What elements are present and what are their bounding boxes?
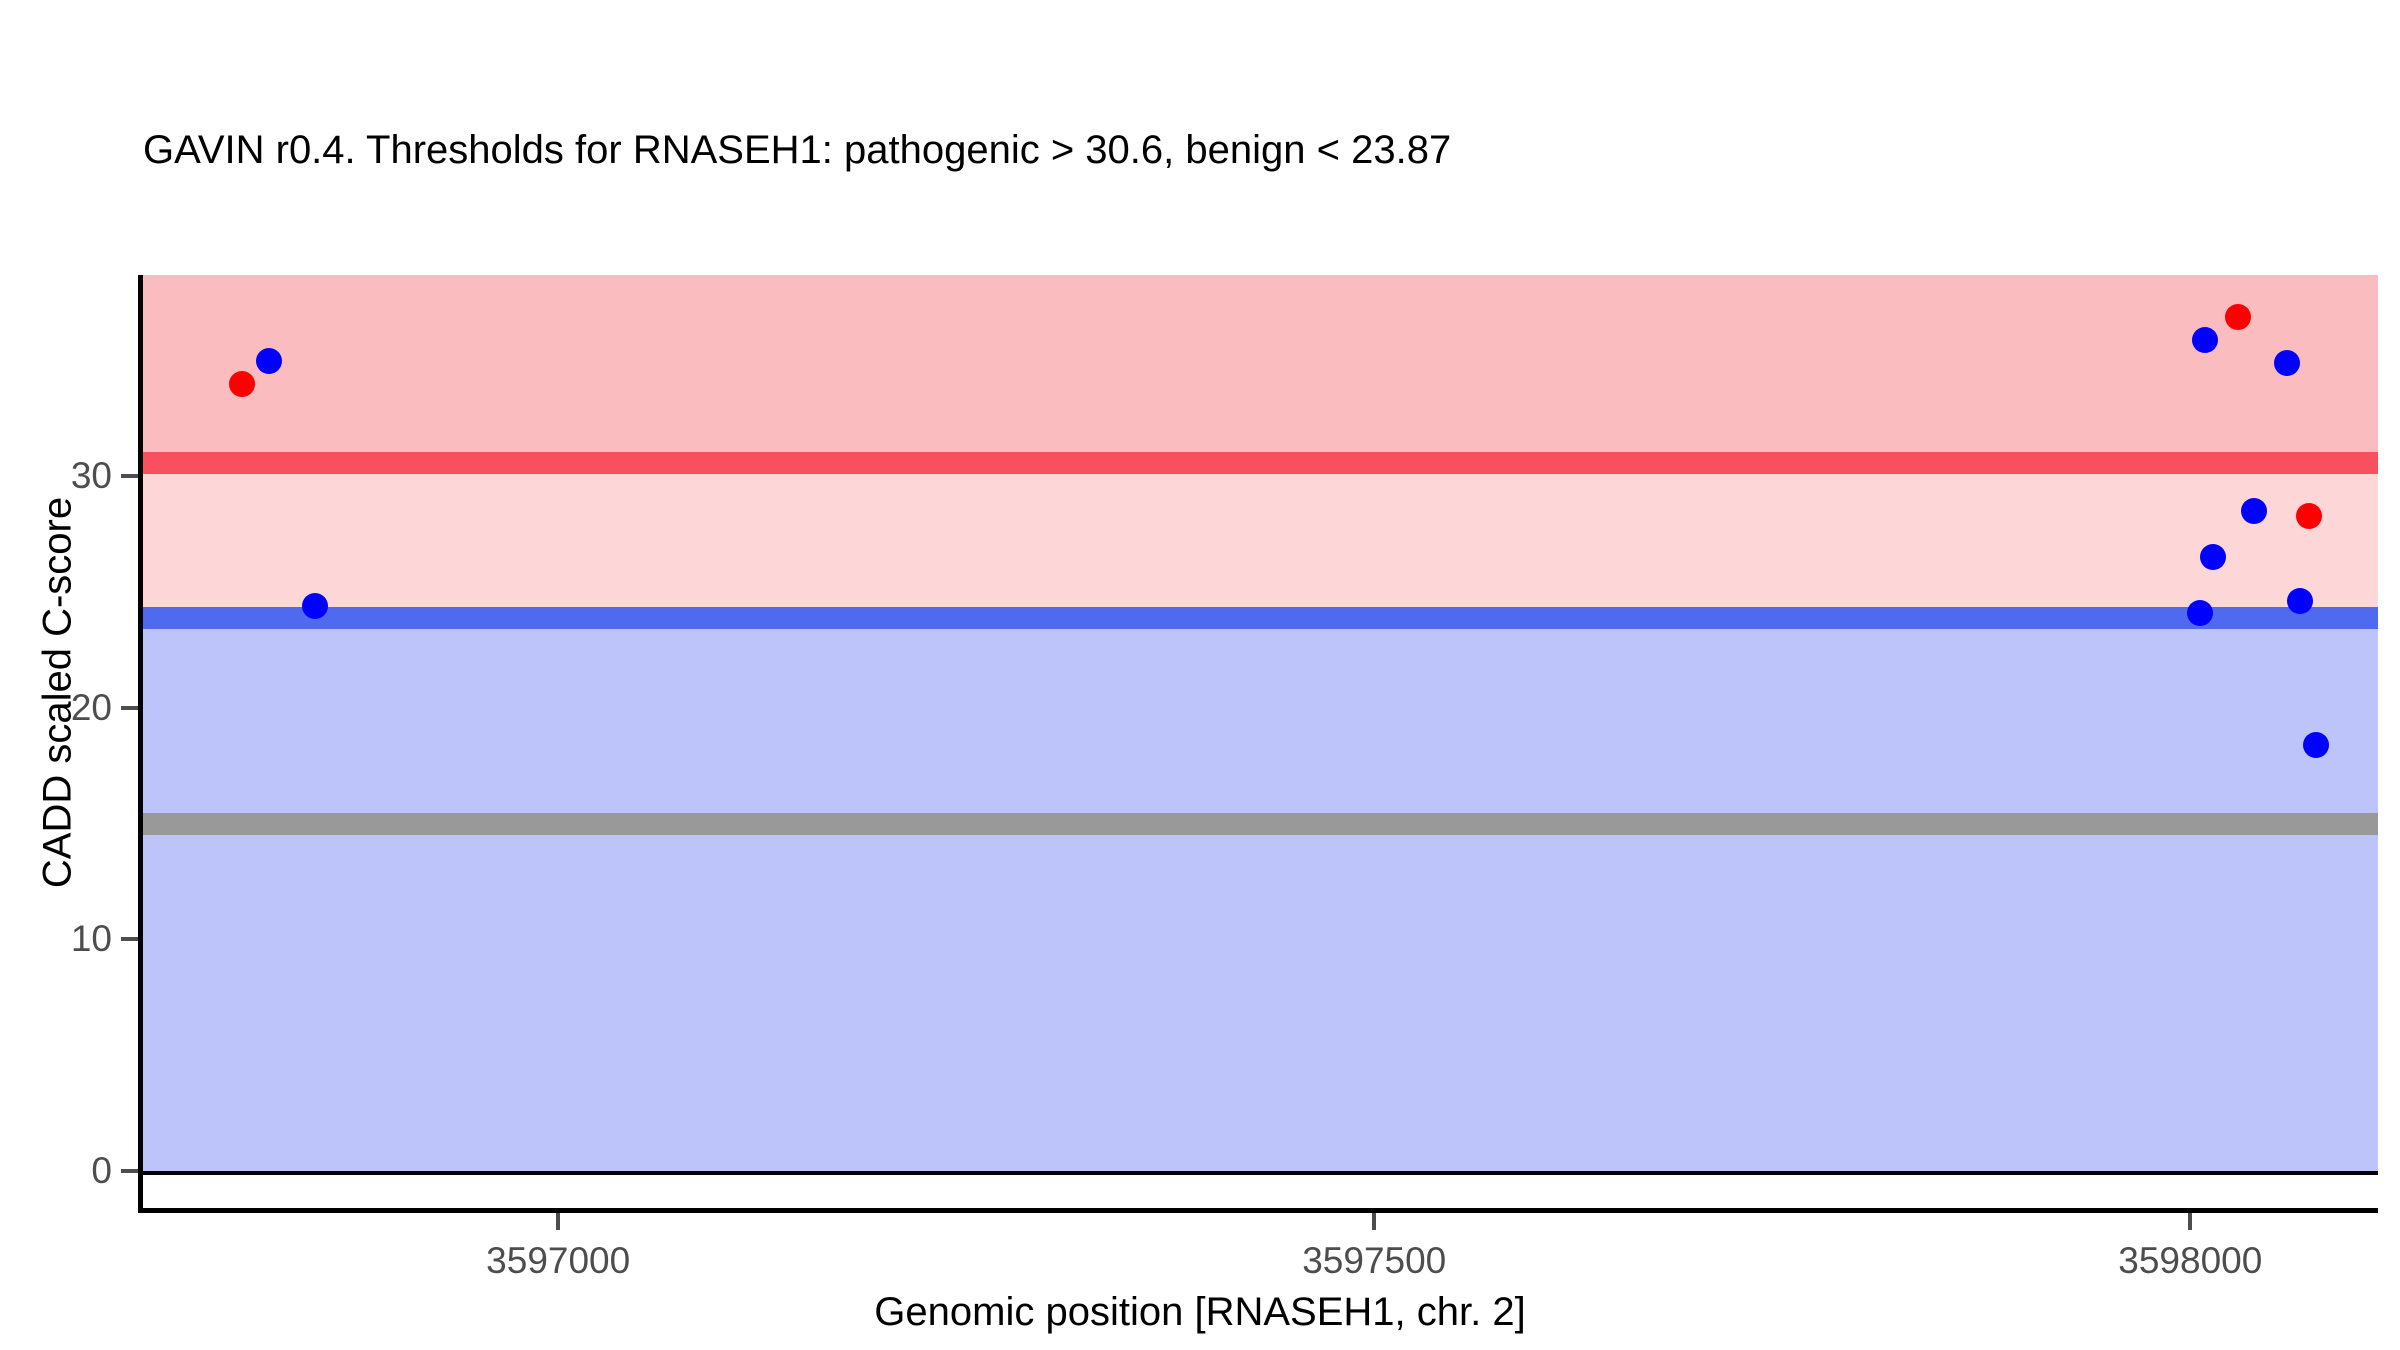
x-tick-3598000: [2188, 1213, 2192, 1230]
gnomad-variant-point[interactable]: [2241, 498, 2267, 524]
zero-baseline: [142, 1171, 2378, 1175]
y-tick-30: [121, 474, 138, 478]
gnomad-variant-point[interactable]: [2287, 588, 2313, 614]
x-tick-label-3597500: 3597500: [1302, 1240, 1446, 1282]
gnomad-variant-point[interactable]: [256, 348, 282, 374]
band-pathogenic: [142, 275, 2378, 463]
benign-threshold-line: [142, 607, 2378, 629]
x-tick-label-3598000: 3598000: [2118, 1240, 2262, 1282]
genome-wide-fallback-threshold-line: [142, 813, 2378, 835]
x-tick-3597000: [556, 1213, 560, 1230]
pathogenic-threshold-line: [142, 452, 2378, 474]
y-axis-title: CADD scaled C-score: [36, 343, 81, 1043]
y-tick-0: [121, 1169, 138, 1173]
plot-panel: [142, 275, 2378, 1213]
x-axis-line: [138, 1208, 2378, 1213]
x-axis-title: Genomic position [RNASEH1, chr. 2]: [0, 1290, 2400, 1335]
band-benign: [142, 618, 2378, 1171]
x-tick-3597500: [1372, 1213, 1376, 1230]
x-tick-label-3597000: 3597000: [486, 1240, 630, 1282]
gnomad-variant-point[interactable]: [2187, 600, 2213, 626]
gnomad-variant-point[interactable]: [2192, 327, 2218, 353]
gnomad-variant-point[interactable]: [2303, 732, 2329, 758]
gnomad-variant-point[interactable]: [2274, 350, 2300, 376]
y-tick-10: [121, 937, 138, 941]
gnomad-variant-point[interactable]: [302, 593, 328, 619]
y-tick-20: [121, 706, 138, 710]
clinvar-variant-point[interactable]: [2225, 304, 2251, 330]
clinvar-variant-point[interactable]: [229, 371, 255, 397]
band-vous: [142, 463, 2378, 619]
y-tick-label-0: 0: [91, 1150, 112, 1192]
title-line-1: GAVIN r0.4. Thresholds for RNASEH1: path…: [143, 122, 2293, 179]
y-axis-line: [138, 275, 143, 1213]
